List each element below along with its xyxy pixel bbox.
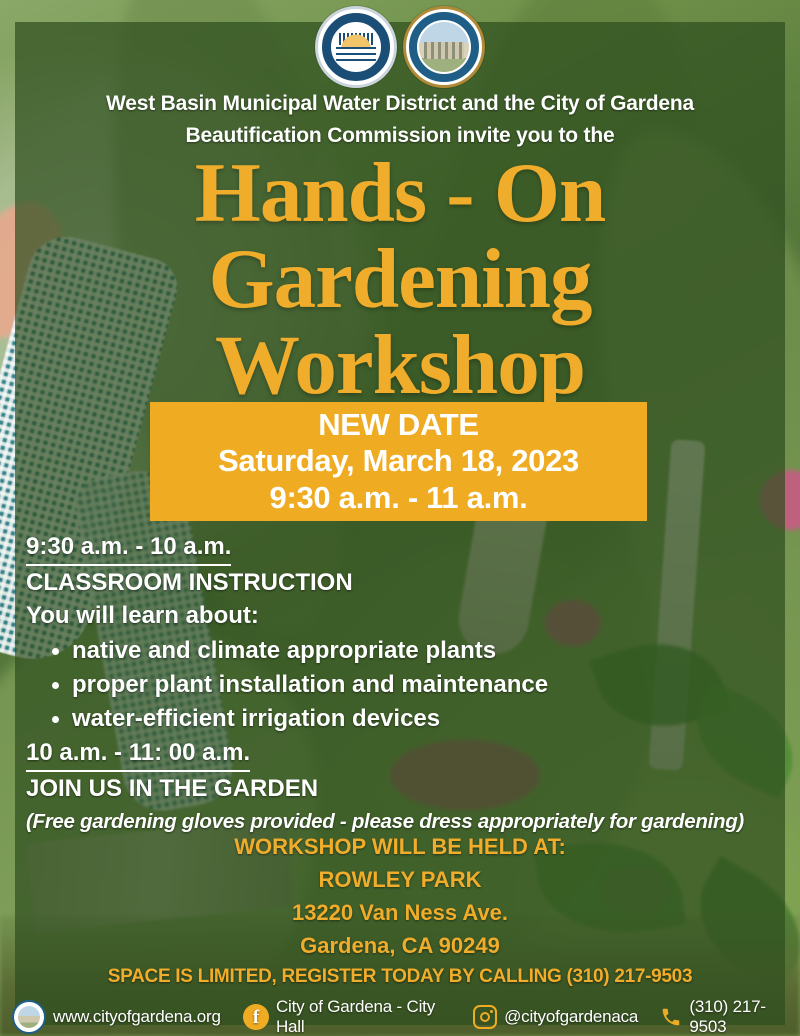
block1-time-row: 9:30 a.m. - 10 a.m. (26, 530, 776, 566)
facebook-icon: f (243, 1004, 269, 1030)
schedule-section: 9:30 a.m. - 10 a.m. CLASSROOM INSTRUCTIO… (26, 530, 776, 837)
instagram-icon (473, 1005, 497, 1029)
phone-icon (660, 1006, 682, 1028)
location-heading: WORKSHOP WILL BE HELD AT: (0, 830, 800, 863)
block1-time: 9:30 a.m. - 10 a.m. (26, 530, 231, 566)
facebook-item[interactable]: f City of Gardena - City Hall (243, 997, 451, 1036)
register-callout: SPACE IS LIMITED, REGISTER TODAY BY CALL… (0, 966, 800, 988)
title-line-1: Hands - On (0, 150, 800, 236)
block2-title: JOIN US IN THE GARDEN (26, 772, 776, 805)
city-of-gardena-seal-icon (403, 6, 485, 88)
phone-label: (310) 217-9503 (689, 997, 792, 1036)
block2-time-row: 10 a.m. - 11: 00 a.m. (26, 736, 776, 772)
website-label: www.cityofgardena.org (53, 1007, 221, 1027)
location-section: WORKSHOP WILL BE HELD AT: ROWLEY PARK 13… (0, 830, 800, 962)
venue-name: ROWLEY PARK (0, 863, 800, 896)
flyer: West Basin Municipal Water District and … (0, 0, 800, 1036)
header-line-1: West Basin Municipal Water District and … (0, 88, 800, 120)
list-item: proper plant installation and maintenanc… (26, 668, 776, 702)
page-title: Hands - On Gardening Workshop (0, 150, 800, 408)
venue-city-state-zip: Gardena, CA 90249 (0, 929, 800, 962)
venue-street: 13220 Van Ness Ave. (0, 896, 800, 929)
city-seal-icon (12, 1000, 46, 1034)
block2-time: 10 a.m. - 11: 00 a.m. (26, 736, 250, 772)
logo-row (0, 6, 800, 88)
website-item[interactable]: www.cityofgardena.org (12, 1000, 221, 1034)
list-item: water-efficient irrigation devices (26, 702, 776, 736)
event-time: 9:30 a.m. - 11 a.m. (270, 479, 528, 516)
block1-title: CLASSROOM INSTRUCTION (26, 566, 776, 599)
flyer-content: West Basin Municipal Water District and … (0, 0, 800, 1036)
instagram-label: @cityofgardenaca (504, 1007, 638, 1027)
learning-topics-list: native and climate appropriate plants pr… (26, 634, 776, 736)
date-banner: NEW DATE Saturday, March 18, 2023 9:30 a… (150, 402, 647, 521)
list-item: native and climate appropriate plants (26, 634, 776, 668)
block1-intro: You will learn about: (26, 599, 776, 632)
phone-item[interactable]: (310) 217-9503 (660, 997, 792, 1036)
instagram-item[interactable]: @cityofgardenaca (473, 1005, 638, 1029)
event-date: Saturday, March 18, 2023 (218, 442, 579, 479)
west-basin-seal-icon (315, 6, 397, 88)
footer-bar: www.cityofgardena.org f City of Gardena … (12, 997, 792, 1036)
title-line-2: Gardening (0, 236, 800, 322)
title-line-3: Workshop (0, 322, 800, 408)
facebook-label: City of Gardena - City Hall (276, 997, 451, 1036)
header-text: West Basin Municipal Water District and … (0, 88, 800, 152)
new-date-label: NEW DATE (318, 408, 479, 442)
